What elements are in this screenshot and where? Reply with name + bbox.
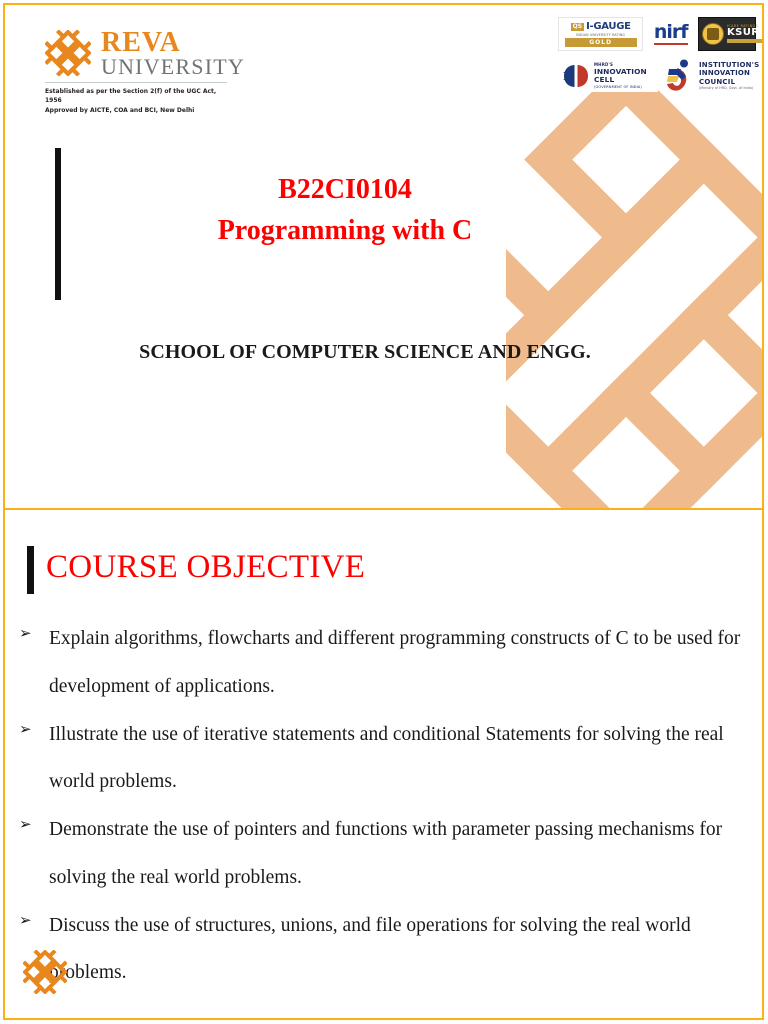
section-heading: COURSE OBJECTIVE (46, 546, 365, 589)
title-section: REVA UNIVERSITY Established as per the S… (5, 5, 762, 508)
institutions-innovation-council-logo: INSTITUTION'S INNOVATION COUNCIL (Minist… (664, 57, 756, 95)
objective-list: ➢ Explain algorithms, flowcharts and dif… (19, 615, 754, 997)
brand-name-secondary: UNIVERSITY (101, 56, 245, 78)
iic-line-4: (Ministry of HRD, Govt. of India) (699, 87, 759, 91)
list-item: ➢ Explain algorithms, flowcharts and dif… (19, 615, 754, 711)
slide-page: REVA UNIVERSITY Established as per the S… (0, 0, 768, 1024)
reva-endless-knot-icon (45, 30, 91, 76)
iic-line-1: INSTITUTION'S (699, 61, 759, 69)
section-divider (3, 508, 764, 510)
brand-divider (45, 82, 227, 83)
course-name: Programming with C (125, 211, 565, 252)
arrow-bullet-icon: ➢ (19, 806, 49, 843)
arrow-bullet-icon: ➢ (19, 711, 49, 748)
arrow-bullet-icon: ➢ (19, 615, 49, 652)
objective-text: Explain algorithms, flowcharts and diffe… (49, 615, 754, 711)
nirf-label: nirf (654, 23, 688, 45)
qs-badge-label: QS (571, 23, 584, 31)
ksurf-logo: ICARE RATINGS KSURF (698, 17, 756, 51)
title-accent-bar (55, 148, 61, 300)
list-item: ➢ Demonstrate the use of pointers and fu… (19, 806, 754, 902)
legal-line-3: Approved by AICTE, COA and BCI, New Delh… (45, 106, 225, 115)
reva-brand-logo: REVA UNIVERSITY Established as per the S… (45, 29, 295, 115)
iic-line-2: INNOVATION (699, 69, 759, 77)
list-item: ➢ Discuss the use of structures, unions,… (19, 902, 754, 998)
iic-figure-icon (664, 59, 696, 93)
nirf-logo: nirf (649, 17, 692, 51)
brand-legal-text: Established as per the Section 2(f) of t… (45, 87, 225, 115)
school-name: SCHOOL OF COMPUTER SCIENCE AND ENGG. (65, 341, 665, 364)
legal-line-2: 1956 (45, 96, 225, 105)
section-accent-bar (27, 546, 34, 594)
arrow-bullet-icon: ➢ (19, 902, 49, 939)
course-code: B22CI0104 (125, 170, 565, 211)
objective-text: Discuss the use of structures, unions, a… (49, 902, 754, 998)
objective-text: Demonstrate the use of pointers and func… (49, 806, 754, 902)
mic-line-2: INNOVATION CELL (594, 68, 658, 85)
qs-igauge-gold-logo: QS I-GAUGE INDIAN UNIVERSITY RATING GOLD (558, 17, 643, 51)
qs-igauge-label: I-GAUGE (586, 22, 631, 32)
ksurf-accent-bar (727, 39, 762, 43)
objective-text: Illustrate the use of iterative statemen… (49, 711, 754, 807)
endless-knot-watermark-icon (506, 79, 762, 508)
mic-line-3: (GOVERNMENT OF INDIA) (594, 85, 658, 89)
accreditation-logos: QS I-GAUGE INDIAN UNIVERSITY RATING GOLD… (558, 17, 756, 101)
mhrd-innovation-cell-logo: MHRD'S INNOVATION CELL (GOVERNMENT OF IN… (562, 60, 658, 92)
ksurf-label: KSURF (727, 28, 762, 38)
page-title: B22CI0104 Programming with C (125, 170, 565, 251)
brain-gear-icon (562, 63, 590, 89)
karnataka-state-emblem-icon (702, 23, 724, 45)
accreditation-row-bottom: MHRD'S INNOVATION CELL (GOVERNMENT OF IN… (558, 57, 756, 95)
qs-subtitle: INDIAN UNIVERSITY RATING (576, 33, 625, 37)
iic-line-3: COUNCIL (699, 78, 759, 86)
qs-tier-label: GOLD (565, 38, 637, 47)
list-item: ➢ Illustrate the use of iterative statem… (19, 711, 754, 807)
accreditation-row-top: QS I-GAUGE INDIAN UNIVERSITY RATING GOLD… (558, 17, 756, 51)
legal-line-1: Established as per the Section 2(f) of t… (45, 87, 225, 96)
brand-name-primary: REVA (101, 29, 245, 56)
course-objective-section: COURSE OBJECTIVE ➢ Explain algorithms, f… (5, 512, 762, 1019)
